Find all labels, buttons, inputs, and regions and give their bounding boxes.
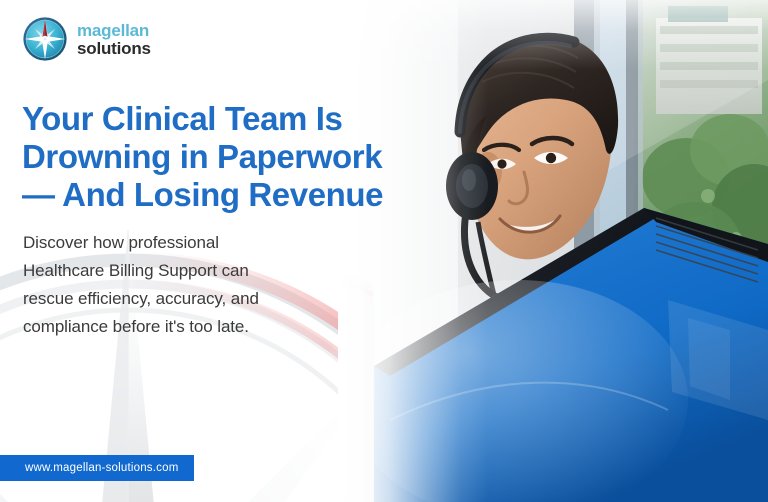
logo-word-solutions: solutions bbox=[77, 40, 151, 58]
subhead-line-1: Discover how professional bbox=[23, 229, 353, 257]
brand-logo[interactable]: magellan solutions bbox=[22, 16, 151, 62]
subhead-line-2: Healthcare Billing Support can bbox=[23, 257, 353, 285]
headline-line-2: Drowning in Paperwork bbox=[22, 138, 492, 176]
hero-photo bbox=[338, 0, 768, 502]
subhead-line-3: rescue efficiency, accuracy, and bbox=[23, 285, 353, 313]
subhead-line-4: compliance before it's too late. bbox=[23, 313, 353, 341]
page-subtitle: Discover how professional Healthcare Bil… bbox=[23, 229, 353, 341]
headline-line-3: — And Losing Revenue bbox=[22, 176, 492, 214]
marketing-banner: magellan solutions Your Clinical Team Is… bbox=[0, 0, 768, 502]
logo-word-magellan: magellan bbox=[77, 22, 151, 40]
website-url-text: www.magellan-solutions.com bbox=[25, 462, 178, 474]
website-url-bar[interactable]: www.magellan-solutions.com bbox=[0, 455, 194, 481]
compass-rose-icon bbox=[22, 16, 68, 62]
headline-line-1: Your Clinical Team Is bbox=[22, 100, 492, 138]
logo-wordmark: magellan solutions bbox=[77, 20, 151, 58]
page-title: Your Clinical Team Is Drowning in Paperw… bbox=[22, 100, 492, 214]
photo-left-fade bbox=[338, 0, 488, 502]
